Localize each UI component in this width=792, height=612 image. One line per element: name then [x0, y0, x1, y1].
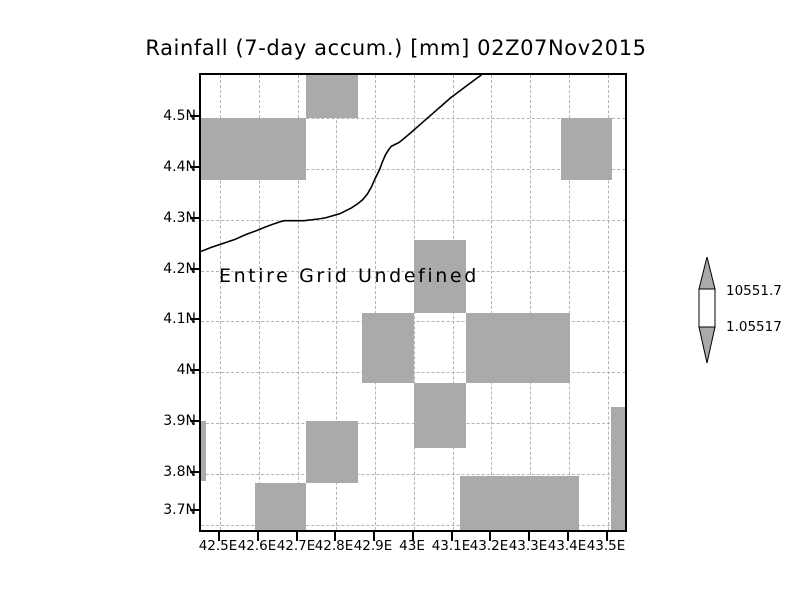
gridline-vertical — [375, 75, 376, 530]
y-axis-label: 4.2N — [163, 261, 196, 277]
data-cell — [201, 118, 306, 180]
x-axis-label: 42.8E — [315, 538, 354, 554]
gridline-vertical — [530, 75, 531, 530]
x-axis-label: 42.5E — [199, 538, 238, 554]
data-cell — [561, 118, 612, 180]
x-axis-label: 43.4E — [548, 538, 587, 554]
y-axis-label: 4.1N — [163, 311, 196, 327]
data-cell — [460, 476, 579, 532]
x-axis-label: 42.6E — [238, 538, 277, 554]
x-axis-label: 43.5E — [587, 538, 626, 554]
data-cell — [306, 75, 358, 118]
y-axis-label: 3.8N — [163, 464, 196, 480]
data-cell — [466, 313, 570, 383]
data-cell — [201, 421, 206, 481]
colorbar[interactable]: 10551.7 1.05517 — [692, 255, 788, 367]
y-axis-label: 4.3N — [163, 210, 196, 226]
y-axis-label: 3.7N — [163, 502, 196, 518]
x-axis-label: 43E — [399, 538, 425, 554]
gridline-horizontal — [201, 474, 625, 475]
y-axis-label: 3.9N — [163, 413, 196, 429]
y-axis-label: 4.4N — [163, 159, 196, 175]
plot-area[interactable]: Entire Grid Undefined — [199, 73, 627, 532]
grads-figure: Rainfall (7-day accum.) [mm] 02Z07Nov201… — [0, 0, 792, 612]
data-cell — [362, 313, 414, 383]
grid-undefined-message: Entire Grid Undefined — [219, 265, 479, 287]
colorbar-upper-label: 10551.7 — [726, 283, 782, 299]
colorbar-lower-label: 1.05517 — [726, 319, 782, 335]
data-cell — [255, 483, 306, 532]
x-axis-label: 43.2E — [470, 538, 509, 554]
x-axis-label: 43.1E — [432, 538, 471, 554]
data-cell — [611, 407, 627, 532]
x-axis-label: 43.3E — [509, 538, 548, 554]
y-axis-label: 4.5N — [163, 108, 196, 124]
gridline-horizontal — [201, 423, 625, 424]
gridline-vertical — [491, 75, 492, 530]
colorbar-graphic — [692, 255, 724, 367]
data-cell — [306, 421, 358, 483]
x-axis-label: 42.9E — [354, 538, 393, 554]
gridline-horizontal — [201, 220, 625, 221]
data-cell — [414, 383, 466, 448]
page-title: Rainfall (7-day accum.) [mm] 02Z07Nov201… — [0, 36, 792, 60]
y-axis-label: 4N — [177, 362, 196, 378]
x-axis-label: 42.7E — [277, 538, 316, 554]
